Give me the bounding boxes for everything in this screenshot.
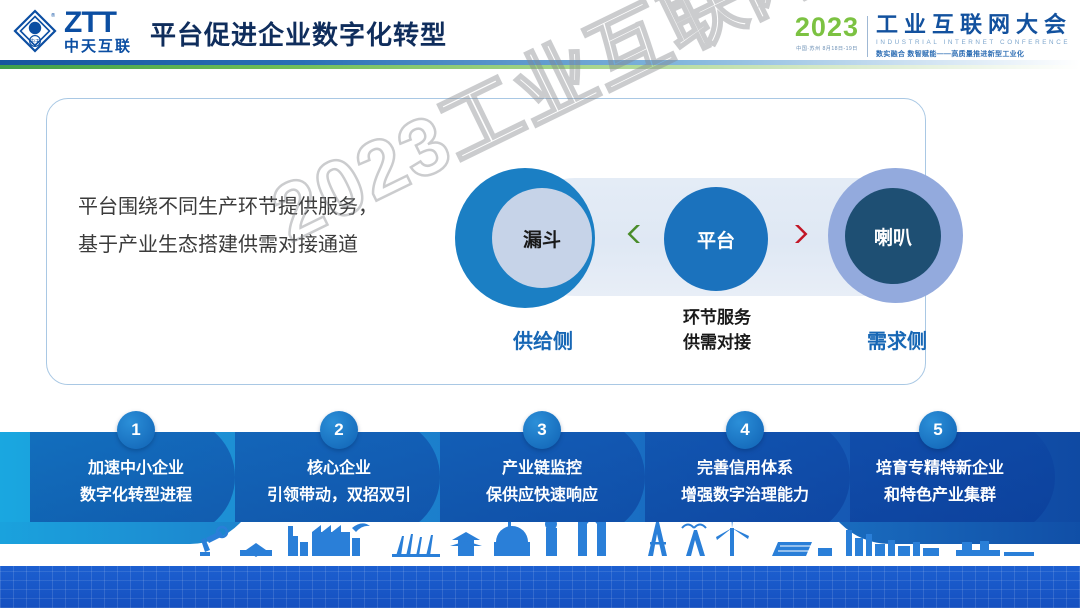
platform-node: 平台 xyxy=(664,187,768,291)
card-description: 平台围绕不同生产环节提供服务， 基于产业生态搭建供需对接通道 xyxy=(78,188,378,264)
platform-caption-line1: 环节服务 xyxy=(651,305,783,330)
point-number: 1 xyxy=(131,420,140,440)
platform-node-label: 平台 xyxy=(697,226,735,253)
supply-caption: 供给侧 xyxy=(478,325,608,354)
point-badge-5[interactable]: 5 xyxy=(919,411,957,449)
point-badge-3[interactable]: 3 xyxy=(523,411,561,449)
demand-node: 喇叭 xyxy=(845,188,941,284)
chevron-right-icon xyxy=(789,222,811,251)
supply-demand-diagram: 漏斗 平台 喇叭 供给侧 环节服务 供需对接 需求侧 xyxy=(0,0,1080,608)
point-number: 2 xyxy=(334,420,343,440)
supply-node-label: 漏斗 xyxy=(523,225,561,252)
demand-node-label: 喇叭 xyxy=(874,223,912,250)
platform-caption: 环节服务 供需对接 xyxy=(651,305,783,355)
point-number: 4 xyxy=(740,420,749,440)
point-number: 3 xyxy=(537,420,546,440)
platform-caption-line2: 供需对接 xyxy=(651,330,783,355)
point-badge-4[interactable]: 4 xyxy=(726,411,764,449)
chevron-left-icon xyxy=(624,222,646,251)
point-badge-1[interactable]: 1 xyxy=(117,411,155,449)
point-number: 5 xyxy=(933,420,942,440)
point-badge-2[interactable]: 2 xyxy=(320,411,358,449)
supply-node: 漏斗 xyxy=(492,188,592,288)
card-description-line2: 基于产业生态搭建供需对接通道 xyxy=(78,226,378,264)
demand-caption: 需求侧 xyxy=(832,325,962,354)
card-description-line1: 平台围绕不同生产环节提供服务， xyxy=(78,188,378,226)
